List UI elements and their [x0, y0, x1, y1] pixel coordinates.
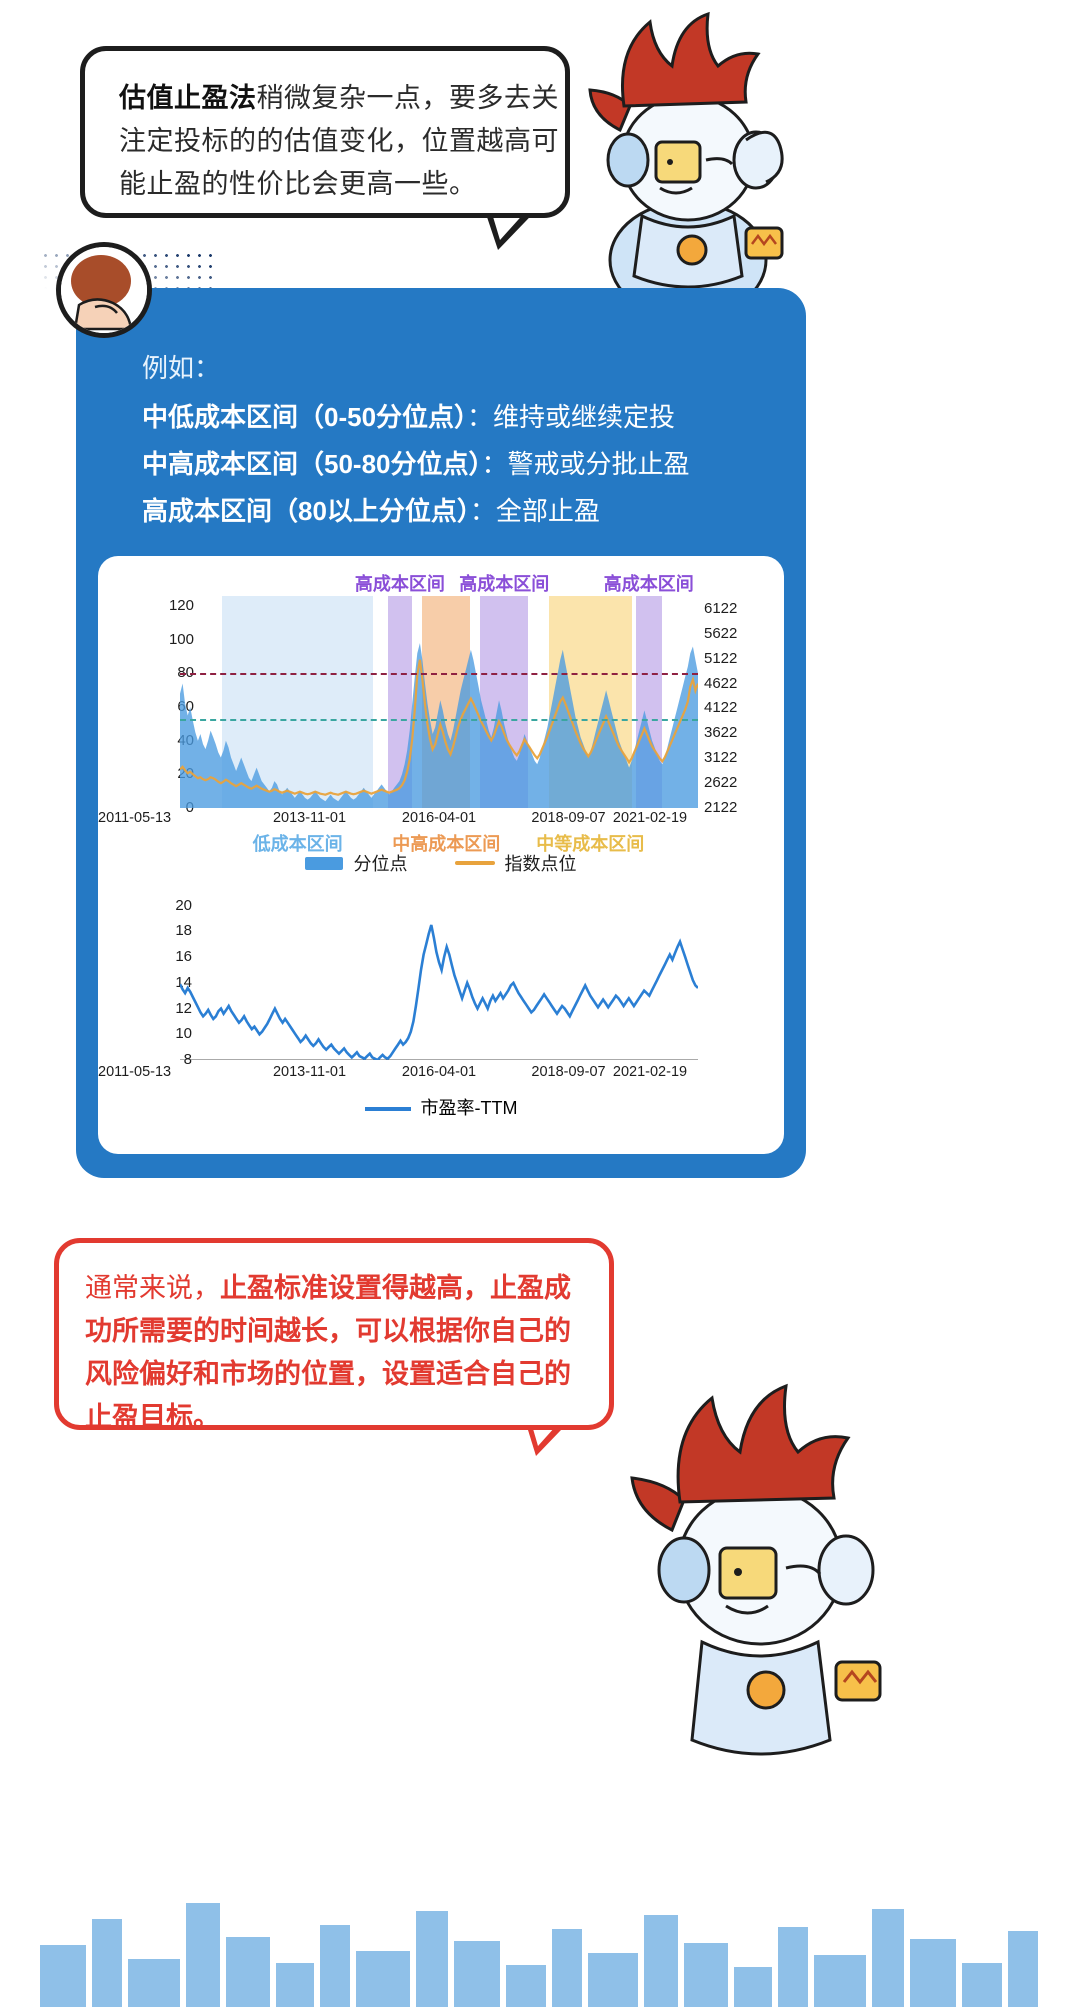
chart1-plot [180, 596, 698, 808]
chart1-ytick-right: 3622 [704, 724, 764, 741]
bottom-bubble-bold-1: 止盈标准设置得越高，止盈成 [220, 1273, 571, 1303]
chart1-xtick: 2021-02-19 [602, 810, 698, 826]
cost-range-low-tail: ：维持或继续定投 [467, 402, 675, 432]
chart1-legend: 分位点 指数点位 [98, 850, 784, 876]
chart1-ytick-right: 4622 [704, 675, 764, 692]
chart1-threshold-line [180, 719, 698, 721]
chart1-ytick-right: 6122 [704, 600, 764, 617]
chart1-ytick-right: 5622 [704, 625, 764, 642]
chart1-xtick: 2013-11-01 [262, 810, 358, 826]
percentile-index-chart: 020406080100120 212226223122362241224622… [98, 556, 784, 856]
cost-range-item-high: 高成本区间（80以上分位点）：全部止盈 [142, 488, 782, 535]
chart1-ytick-right: 3122 [704, 749, 764, 766]
pe-ttm-chart: 8101214161820 2011-05-132013-11-012016-0… [98, 876, 784, 1146]
top-bubble-text-1: 稍微复杂一点，要多去关 [257, 83, 560, 113]
cost-range-item-mid: 中高成本区间（50-80分位点）：警戒或分批止盈 [142, 441, 782, 488]
legend-swatch-index [455, 861, 495, 865]
top-bubble-line-1: 估值止盈法稍微复杂一点，要多去关 [119, 77, 539, 120]
bottom-bubble-plain-1: 通常来说， [85, 1273, 220, 1303]
chart2-xtick: 2011-05-13 [98, 1064, 248, 1080]
chart1-xtick: 2016-04-01 [391, 810, 487, 826]
chart1-band-label: 高成本区间 [595, 570, 703, 596]
chart1-ytick-right: 2122 [704, 799, 764, 816]
cost-range-mid-tail: ：警戒或分批止盈 [482, 449, 690, 479]
bottom-bubble-line-2: 功所需要的时间越长，可以根据你自己的 [85, 1310, 589, 1353]
bottom-bubble-line-3: 风险偏好和市场的位置，设置适合自己的 [85, 1353, 589, 1396]
chart1-band-label: 高成本区间 [450, 570, 558, 596]
bottom-bubble-bold-2: 功所需要的时间越长，可以根据你自己的 [85, 1316, 571, 1346]
bottom-bubble-bold-3: 风险偏好和市场的位置，设置适合自己的 [85, 1359, 571, 1389]
bottom-bubble-bold-4: 止盈目标。 [85, 1402, 220, 1432]
chart-panel: 020406080100120 212226223122362241224622… [98, 556, 784, 1154]
mascot-squirrel-bottom [600, 1380, 930, 1780]
legend-label-index: 指数点位 [505, 850, 577, 876]
avatar [56, 242, 152, 338]
chart1-ytick-right: 2622 [704, 774, 764, 791]
chart2-xtick: 2016-04-01 [391, 1064, 487, 1080]
top-bubble-line-2: 注定投标的的估值变化，位置越高可 [119, 120, 539, 163]
chart2-xtick: 2021-02-19 [602, 1064, 698, 1080]
bottom-bubble-line-4: 止盈目标。 [85, 1396, 589, 1439]
example-card: 例如： 中低成本区间（0-50分位点）：维持或继续定投 中高成本区间（50-80… [76, 288, 806, 1178]
legend-label-pe: 市盈率-TTM [421, 1098, 518, 1118]
chart1-band-label: 高成本区间 [346, 570, 454, 596]
bottom-speech-bubble: 通常来说，止盈标准设置得越高，止盈成 功所需要的时间越长，可以根据你自己的 风险… [54, 1238, 614, 1430]
bottom-bubble-line-1: 通常来说，止盈标准设置得越高，止盈成 [85, 1267, 589, 1310]
cost-range-low-head: 中低成本区间（0-50分位点） [142, 402, 467, 432]
city-skyline [0, 1867, 1080, 2007]
chart2-line-pe [180, 925, 698, 1060]
legend-label-percentile: 分位点 [353, 850, 407, 876]
cost-range-mid-head: 中高成本区间（50-80分位点） [142, 449, 482, 479]
cost-range-high-head: 高成本区间（80以上分位点） [142, 496, 470, 526]
chart1-xtick: 2011-05-13 [98, 810, 248, 826]
chart1-threshold-line [180, 673, 698, 675]
cost-range-item-low: 中低成本区间（0-50分位点）：维持或继续定投 [142, 394, 782, 441]
chart2-legend: 市盈率-TTM [98, 1094, 784, 1120]
mascot-squirrel-top [560, 10, 820, 310]
top-bubble-line-3: 能止盈的性价比会更高一些。 [119, 163, 539, 206]
top-bubble-keyword: 估值止盈法 [119, 83, 257, 113]
legend-swatch-percentile [305, 857, 343, 870]
chart1-ytick-right: 4122 [704, 699, 764, 716]
chart1-ytick-right: 5122 [704, 650, 764, 667]
example-intro: 例如： [142, 348, 220, 385]
cost-range-high-tail: ：全部止盈 [470, 496, 600, 526]
legend-swatch-pe [365, 1107, 411, 1111]
cost-range-list: 中低成本区间（0-50分位点）：维持或继续定投 中高成本区间（50-80分位点）… [142, 394, 782, 535]
top-speech-bubble: 估值止盈法稍微复杂一点，要多去关 注定投标的的估值变化，位置越高可 能止盈的性价… [80, 46, 570, 218]
chart2-plot [180, 898, 698, 1060]
chart2-xtick: 2013-11-01 [262, 1064, 358, 1080]
